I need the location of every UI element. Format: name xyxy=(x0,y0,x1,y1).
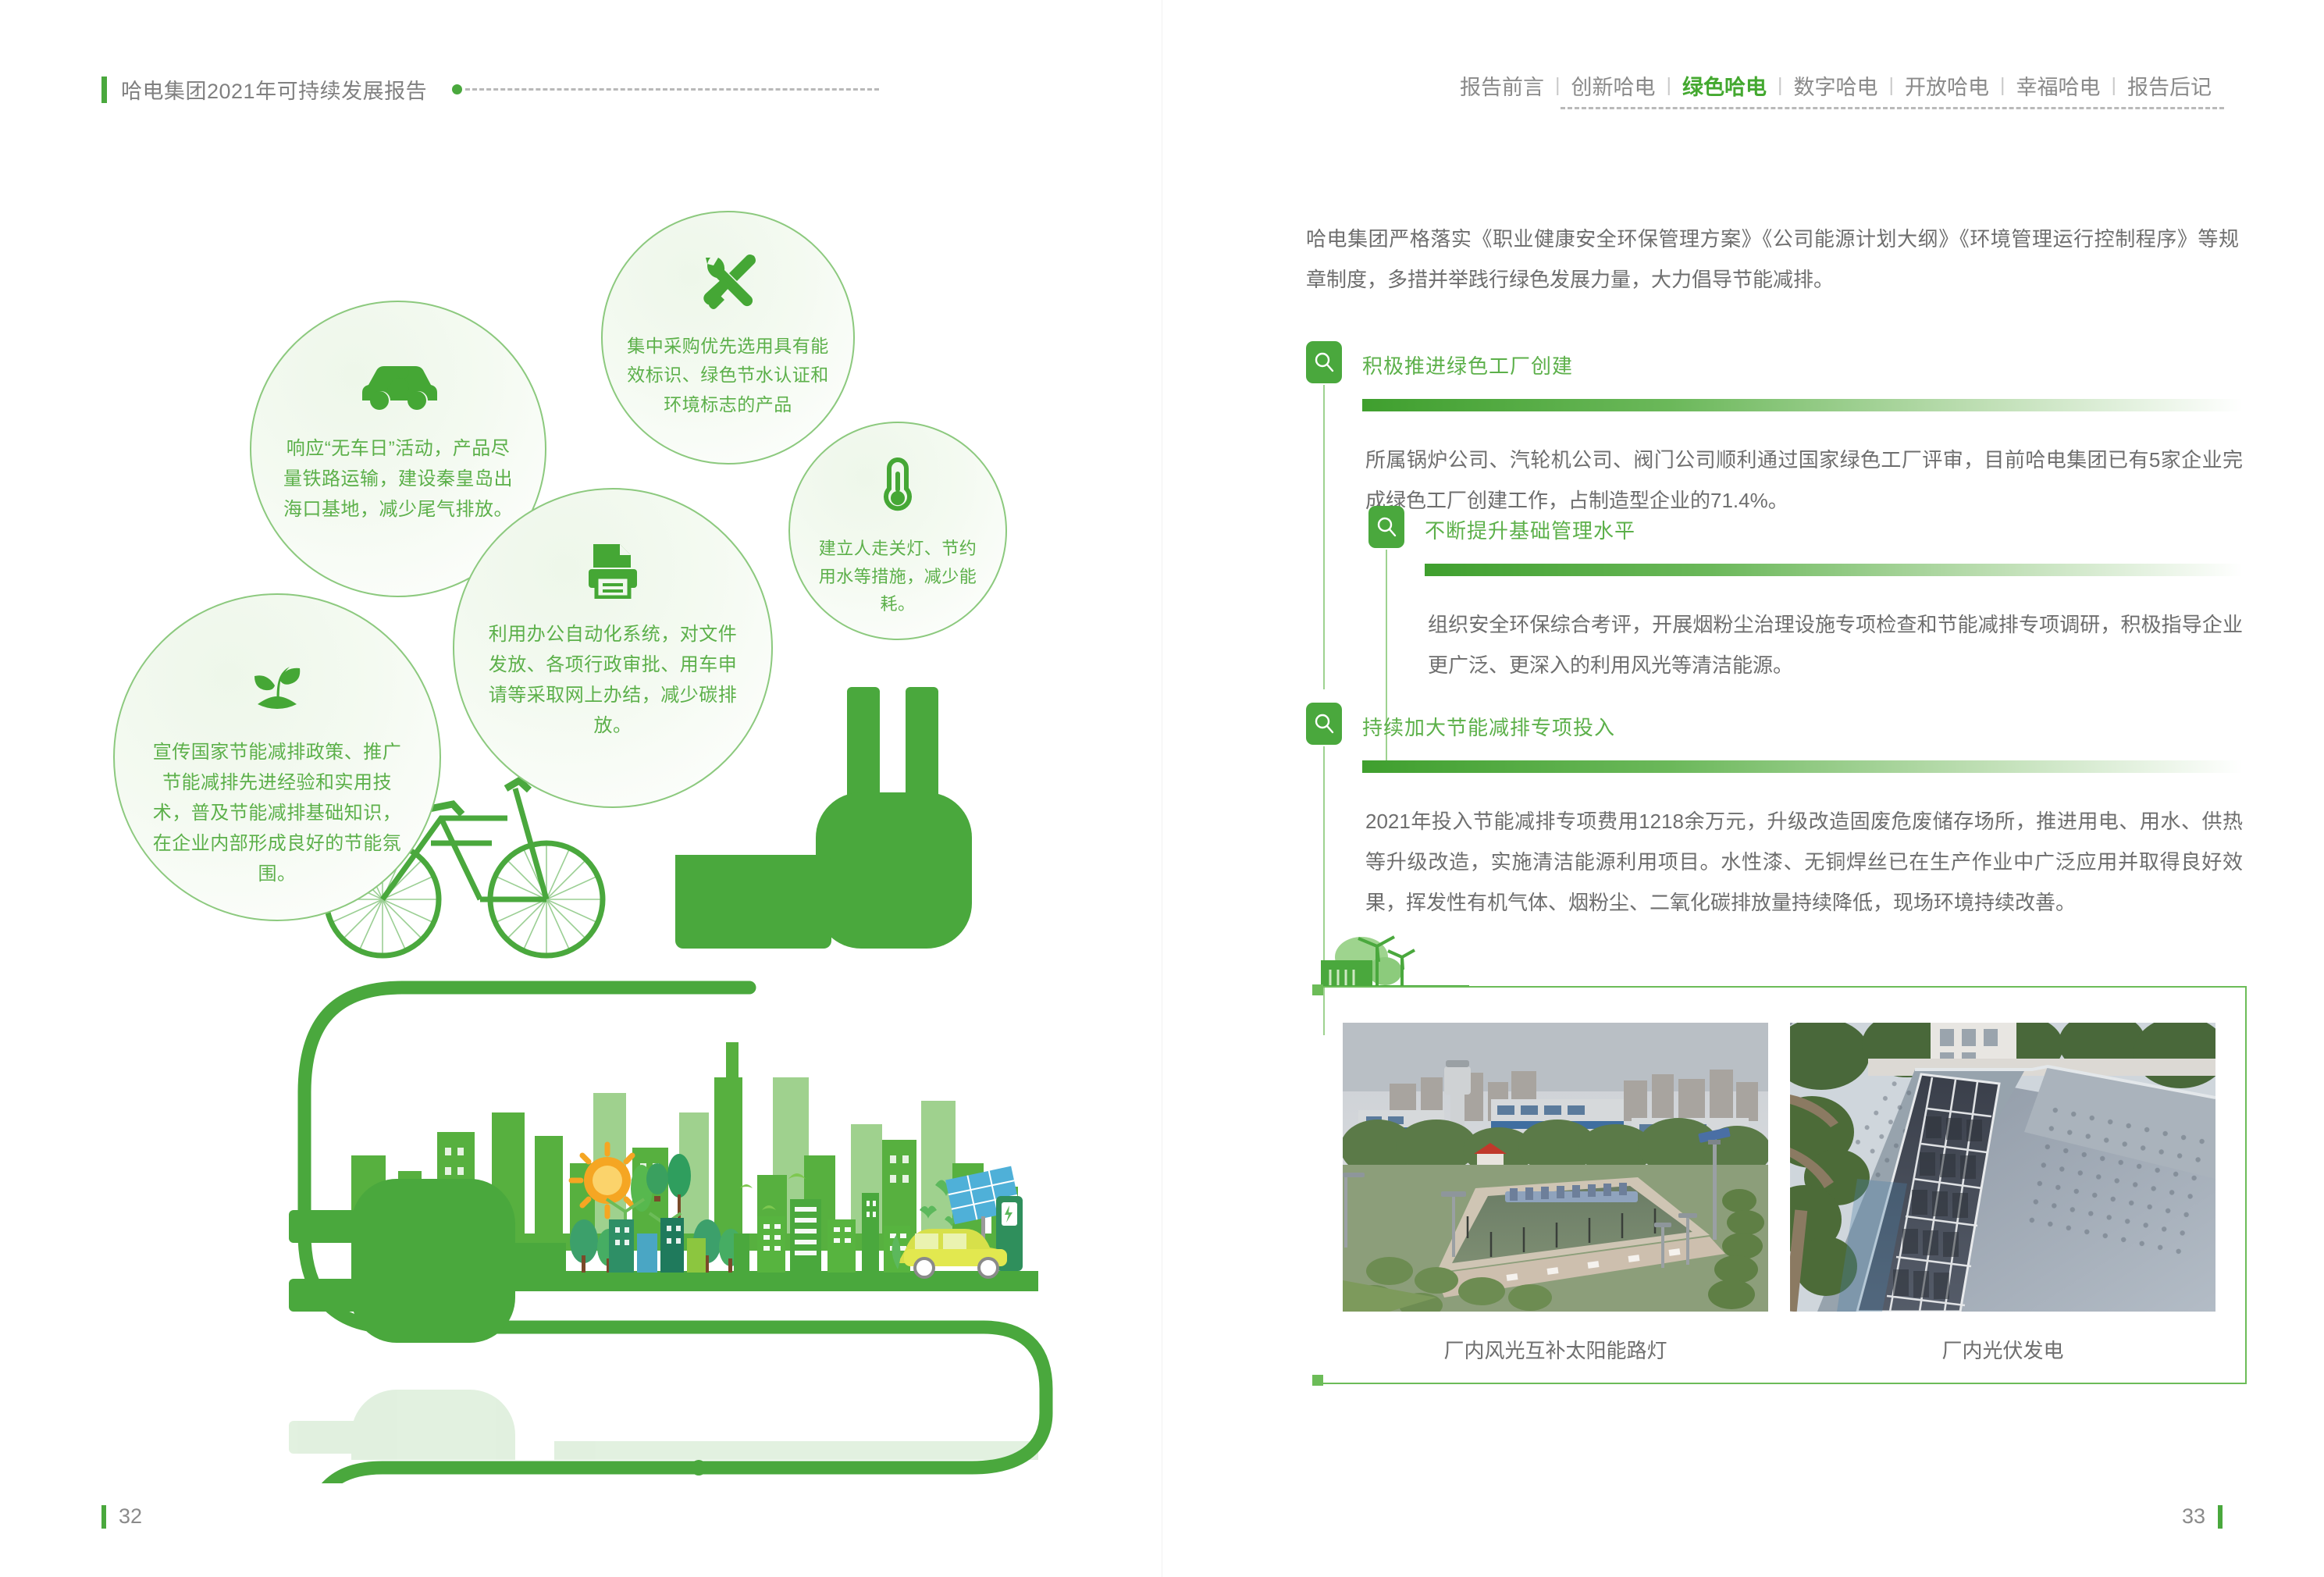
page-number-left: 32 xyxy=(101,1504,142,1529)
sprout-icon xyxy=(247,656,308,721)
thermometer-icon xyxy=(881,457,915,518)
right-page: 哈电集团严格落实《职业健康安全环保管理方案》《公司能源计划大纲》《环境管理运行控… xyxy=(1162,0,2324,1577)
printer-icon xyxy=(587,543,639,603)
power-plug-icon xyxy=(289,1179,566,1343)
photo-caption-1: 厂内风光互补太阳能路灯 xyxy=(1343,1335,1768,1364)
section-green-factory: 积极推进绿色工厂创建 所属锅炉公司、汽轮机公司、阀门公司顺利通过国家绿色工厂评审… xyxy=(1306,341,2243,521)
photo-solar-streetlight-reservoir xyxy=(1343,1023,1768,1312)
section-management-level: 不断提升基础管理水平 组织安全环保综合考评，开展烟粉尘治理设施专项检查和节能减排… xyxy=(1368,506,2243,685)
page-number-accent-bar xyxy=(2218,1505,2223,1529)
photo-frame-left-gap xyxy=(1316,986,1319,1384)
car-icon xyxy=(356,358,440,417)
section-stem-line xyxy=(1323,385,1325,689)
section-header: 不断提升基础管理水平 xyxy=(1368,506,2243,548)
hydro-wind-power-icon xyxy=(1316,926,1472,993)
photo-row xyxy=(1343,1023,2215,1312)
page-number-value: 33 xyxy=(2182,1504,2205,1529)
section-gradient-rule xyxy=(1362,399,2243,411)
bubble-sprout-text: 宣传国家节能减排政策、推广节能减排先进经验和实用技术，普及节能减排基础知识，在企… xyxy=(144,738,410,889)
bubble-car-text: 响应“无车日”活动，产品尽量铁路运输，建设秦皇岛出海口基地，减少尾气排放。 xyxy=(281,434,515,525)
colored-buildings xyxy=(609,1218,706,1273)
electric-car-icon xyxy=(898,1229,1007,1277)
report-spread-page: 哈电集团2021年可持续发展报告 报告前言 | 创新哈电 | 绿色哈电 | 数字… xyxy=(0,0,2324,1577)
page-number-accent-bar xyxy=(101,1505,106,1529)
bubble-thermometer: 建立人走关灯、节约用水等措施，减少能耗。 xyxy=(788,422,1007,640)
bubble-printer: 利用办公自动化系统，对文件发放、各项行政审批、用车申请等采取网上办结，减少碳排放… xyxy=(453,488,773,808)
bubble-printer-text: 利用办公自动化系统，对文件发放、各项行政审批、用车申请等采取网上办结，减少碳排放… xyxy=(486,620,740,742)
bubble-tools: 集中采购优先选用具有能效标识、绿色节水认证和环境标志的产品 xyxy=(601,211,855,465)
bubble-tools-text: 集中采购优先选用具有能效标识、绿色节水认证和环境标志的产品 xyxy=(626,332,831,419)
page-number-right: 33 xyxy=(2182,1504,2223,1529)
section-header: 持续加大节能减排专项投入 xyxy=(1306,703,2243,745)
section-body: 组织安全环保综合考评，开展烟粉尘治理设施专项检查和节能减排专项调研，积极指导企业… xyxy=(1428,604,2243,685)
left-page: 响应“无车日”活动，产品尽量铁路运输，建设秦皇岛出海口基地，减少尾气排放。 集中… xyxy=(0,0,1162,1577)
magnifier-icon xyxy=(1368,506,1404,548)
photo-caption-2: 厂内光伏发电 xyxy=(1790,1335,2215,1364)
photo-frame-tick-top xyxy=(1312,984,1323,995)
section-title: 持续加大节能减排专项投入 xyxy=(1362,703,1615,741)
section-energy-saving-investment: 持续加大节能减排专项投入 2021年投入节能减排专项费用1218余万元，升级改造… xyxy=(1306,703,2243,923)
bubble-thermometer-text: 建立人走关灯、节约用水等措施，减少能耗。 xyxy=(814,535,982,618)
section-gradient-rule xyxy=(1425,564,2243,576)
magnifier-icon xyxy=(1306,703,1342,745)
photo-rooftop-pv xyxy=(1790,1023,2215,1312)
tools-icon xyxy=(699,253,757,315)
eco-city-scene-illustration xyxy=(281,1124,1062,1460)
photo-frame-tick-bottom xyxy=(1312,1375,1323,1386)
section-title: 不断提升基础管理水平 xyxy=(1425,506,1635,544)
intro-paragraph: 哈电集团严格落实《职业健康安全环保管理方案》《公司能源计划大纲》《环境管理运行控… xyxy=(1306,219,2239,300)
section-title: 积极推进绿色工厂创建 xyxy=(1362,341,1573,379)
section-header: 积极推进绿色工厂创建 xyxy=(1306,341,2243,383)
page-number-value: 32 xyxy=(119,1504,142,1529)
magnifier-icon xyxy=(1306,341,1342,383)
section-gradient-rule xyxy=(1362,760,2243,773)
section-body: 2021年投入节能减排专项费用1218余万元，升级改造固废危废储存场所，推进用电… xyxy=(1365,801,2243,923)
bubble-sprout: 宣传国家节能减排政策、推广节能减排先进经验和实用技术，普及节能减排基础知识，在企… xyxy=(113,593,441,921)
